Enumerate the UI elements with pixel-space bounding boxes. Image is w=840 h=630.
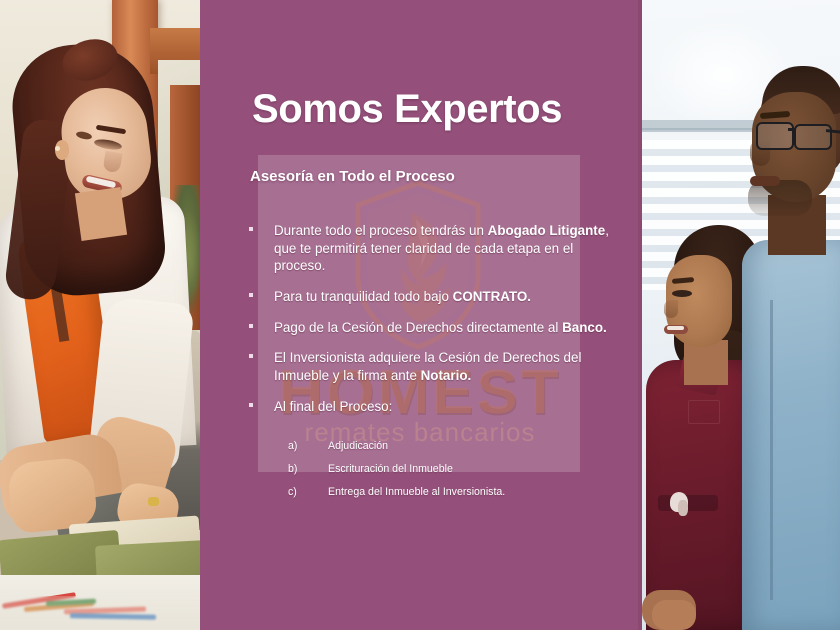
left-photo xyxy=(0,0,200,630)
sub-list-item: b)Escrituración del Inmueble xyxy=(288,463,618,476)
sub-list-marker: a) xyxy=(288,440,328,453)
bullet-item: Pago de la Cesión de Derechos directamen… xyxy=(246,319,612,337)
bullet-list: Durante todo el proceso tendrás un Aboga… xyxy=(246,222,612,429)
bullet-text: Pago de la Cesión de Derechos directamen… xyxy=(274,320,562,335)
bullet-text: Durante todo el proceso tendrás un xyxy=(274,223,488,238)
bullet-emphasis: Notario. xyxy=(421,368,472,383)
bullet-emphasis: Abogado Litigante xyxy=(488,223,606,238)
sub-list-text: Escrituración del Inmueble xyxy=(328,463,618,476)
sub-list-item: c)Entrega del Inmueble al Inversionista. xyxy=(288,486,618,499)
sub-list-marker: c) xyxy=(288,486,328,499)
sub-list-text: Adjudicación xyxy=(328,440,618,453)
bullet-text: Al final del Proceso: xyxy=(274,399,392,414)
bullet-item: Durante todo el proceso tendrás un Aboga… xyxy=(246,222,612,275)
panel-heading: Asesoría en Todo el Proceso xyxy=(250,168,590,185)
bullet-emphasis: CONTRATO. xyxy=(453,289,531,304)
bullet-item: El Inversionista adquiere la Cesión de D… xyxy=(246,349,612,384)
slide-title: Somos Expertos xyxy=(252,88,632,130)
bullet-text: Para tu tranquilidad todo bajo xyxy=(274,289,453,304)
sub-list-marker: b) xyxy=(288,463,328,476)
presentation-slide: Somos Expertos HOMEST remates bancarios … xyxy=(0,0,840,630)
sub-list: a)Adjudicaciónb)Escrituración del Inmueb… xyxy=(288,440,618,510)
sub-list-item: a)Adjudicación xyxy=(288,440,618,453)
right-photo xyxy=(638,0,840,630)
bullet-emphasis: Banco. xyxy=(562,320,607,335)
bullet-item: Al final del Proceso: xyxy=(246,398,612,416)
bullet-item: Para tu tranquilidad todo bajo CONTRATO. xyxy=(246,288,612,306)
sub-list-text: Entrega del Inmueble al Inversionista. xyxy=(328,486,618,499)
